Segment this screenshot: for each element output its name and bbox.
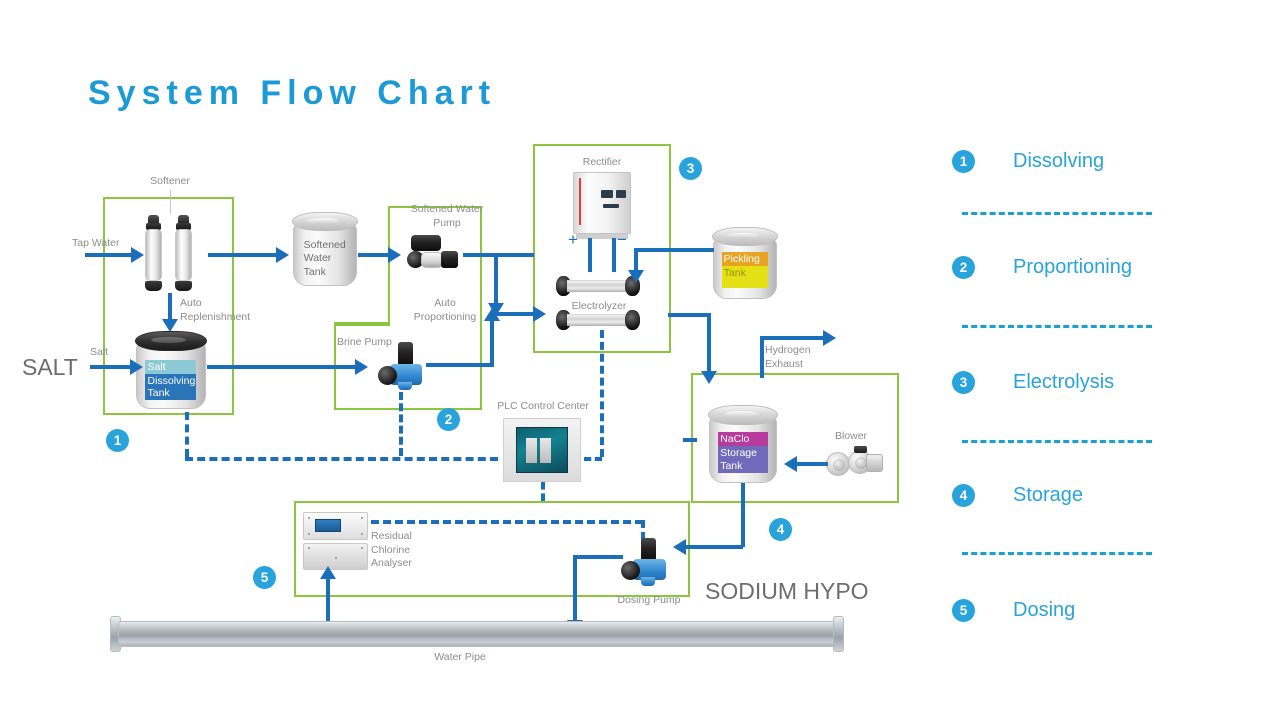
blower: [826, 446, 884, 480]
stage3-control-line-horizontal: [584, 457, 602, 461]
softener-label: Softener: [140, 175, 200, 189]
tank-to-pump-arrowhead: [388, 247, 401, 263]
dosing-discharge-down-line: [573, 555, 577, 627]
pickling-tank-body: Pickling Tank: [713, 239, 776, 299]
tank-to-pump-line: [358, 253, 388, 257]
brine-pump-foot: [398, 382, 412, 390]
flow-chart-canvas: System Flow Chart 1 2 3 4 5 Softener Tap…: [0, 0, 1280, 720]
naclo-out-arrowhead: [673, 539, 686, 555]
polarity-minus-label: −: [617, 230, 627, 250]
legend-label-5: Dosing: [1013, 599, 1075, 622]
analyser-upper-housing: [303, 512, 368, 540]
brine-pump-out-line: [426, 363, 494, 367]
salt-input-title: SALT: [22, 354, 78, 381]
plc-to-stage5-control-line: [541, 482, 545, 501]
brine-out-arrowhead: [355, 359, 368, 375]
blower-air-line: [796, 462, 828, 466]
softened-tank-line-1: Softened: [302, 238, 349, 252]
legend-label-1: Dissolving: [1013, 150, 1104, 173]
electrolyzer-pipe: [567, 280, 629, 292]
brine-pump: [378, 342, 428, 392]
softener-cylinder-right: [175, 215, 192, 291]
rectifier-display-1: [601, 190, 613, 198]
electrolyzer-out-down-line: [707, 313, 711, 375]
blower-label: Blower: [826, 430, 876, 444]
plc-module-1: [526, 438, 537, 464]
stage-2-group-box-joint: [334, 322, 390, 326]
pickling-feed-line: [634, 248, 714, 252]
tap-water-label: Tap Water: [72, 237, 132, 251]
auto-proportioning-label: Auto Proportioning: [398, 297, 492, 324]
brine-pump-motor: [398, 342, 413, 366]
plc-control-center-label: PLC Control Center: [495, 400, 591, 414]
electrolyzer-out-arrowhead: [701, 371, 717, 384]
softener-leader-line: [170, 190, 171, 214]
pump-head: [421, 252, 443, 268]
analyser-signal-line: [371, 520, 643, 524]
brine-pump-rotor-icon: [378, 366, 397, 385]
pickling-tank-band-1: Pickling: [722, 252, 769, 266]
analyser-screw: [308, 547, 310, 549]
rectifier-display-2: [616, 190, 626, 198]
softened-tank-line-2: Water: [302, 251, 349, 265]
pickling-feed-down-line: [634, 248, 638, 272]
stage-badge-5: 5: [253, 566, 276, 589]
plc-module-2: [540, 438, 551, 464]
softened-tank-line-3: Tank: [302, 265, 349, 279]
dosing-pump-foot: [641, 577, 655, 586]
residual-chlorine-analyser: [303, 512, 368, 570]
dosing-pump-motor: [641, 538, 656, 561]
softener-foot: [175, 281, 192, 291]
plc-control-center: [503, 418, 581, 482]
blower-inlet-cap: [854, 446, 867, 453]
water-pipe-cap-right: [833, 616, 844, 652]
pump-motor: [411, 235, 441, 251]
analyser-screw: [361, 517, 363, 519]
legend-badge-5: 5: [952, 599, 975, 622]
legend-label-2: Proportioning: [1013, 256, 1132, 279]
analyser-signal-down-line: [641, 520, 645, 540]
salt-tank-lid: [135, 331, 207, 351]
pickling-feed-arrowhead: [628, 270, 644, 283]
dosing-pump-label: Dosing Pump: [613, 594, 685, 608]
stage4-control-line: [683, 438, 697, 442]
blower-motor: [866, 454, 883, 472]
water-pipe: [118, 621, 836, 647]
stage-badge-3: 3: [679, 157, 702, 180]
dosing-pump: [621, 538, 673, 590]
naclo-tank-handle: [724, 411, 758, 417]
hydrogen-exhaust-arrowhead: [823, 330, 836, 346]
residual-chlorine-analyser-label: Residual Chlorine Analyser: [371, 530, 451, 571]
stage1-control-line-horizontal: [185, 457, 498, 461]
page-title: System Flow Chart: [88, 74, 496, 113]
hydrogen-exhaust-line: [760, 336, 823, 340]
plc-screen: [516, 427, 568, 473]
pickling-tank-lid: [712, 227, 778, 246]
pump-outlet: [441, 251, 458, 268]
rectifier-door-strip: [579, 178, 581, 225]
naclo-out-down-line: [741, 483, 745, 547]
softener-out-arrowhead: [276, 247, 289, 263]
softener-cylinder-left: [145, 215, 162, 291]
legend-item-3[interactable]: 3 Electrolysis: [952, 371, 1114, 394]
legend-badge-2: 2: [952, 256, 975, 279]
stage-badge-1: 1: [106, 429, 129, 452]
hydrogen-exhaust-label: Hydrogen Exhaust: [765, 344, 835, 371]
legend-separator-2: [962, 325, 1152, 328]
softened-pump-out-line: [463, 253, 534, 257]
legend-badge-4: 4: [952, 484, 975, 507]
naclo-out-to-pump-line: [685, 545, 743, 549]
legend-item-2[interactable]: 2 Proportioning: [952, 256, 1132, 279]
tap-water-flow-line: [85, 253, 131, 257]
sample-return-arrowhead: [320, 566, 336, 579]
electrolyzer-pipe: [567, 314, 629, 326]
analyser-screw: [361, 533, 363, 535]
blower-fan-left: [826, 452, 850, 476]
rectifier-label: Rectifier: [570, 156, 634, 170]
analyser-lcd-display: [315, 519, 340, 532]
blower-air-arrowhead: [784, 456, 797, 472]
salt-flow-line: [90, 365, 130, 369]
naclo-storage-tank: NaClo Storage Tank: [708, 405, 778, 483]
analyser-screw: [361, 547, 363, 549]
naclo-tank-lid: [708, 405, 778, 425]
legend-label-3: Electrolysis: [1013, 371, 1114, 394]
stage1-control-line-vertical: [185, 412, 189, 457]
salt-tank-handle: [151, 337, 186, 343]
rectifier: [573, 172, 631, 234]
hydrogen-exhaust-riser: [760, 336, 764, 378]
softened-water-tank: Softened Water Tank: [292, 212, 358, 286]
naclo-tank-band-1: NaClo: [718, 432, 768, 446]
naclo-tank-body: NaClo Storage Tank: [709, 417, 776, 483]
manifold-to-electrolyzer-arrowhead: [533, 306, 546, 322]
softened-water-tank-body: Softened Water Tank: [293, 224, 356, 286]
legend-badge-3: 3: [952, 371, 975, 394]
analyser-screw: [308, 517, 310, 519]
softened-pump-down-line: [494, 253, 498, 305]
legend-item-4[interactable]: 4 Storage: [952, 484, 1083, 507]
legend-item-5[interactable]: 5 Dosing: [952, 599, 1075, 622]
rectifier-indicator: [603, 204, 619, 208]
salt-flow-arrowhead: [130, 359, 143, 375]
pickling-tank-handle: [727, 233, 759, 239]
rectifier-negative-lead: [612, 238, 616, 272]
naclo-tank-band-3: Tank: [718, 459, 768, 473]
electrolyzer-label: Electrolyzer: [568, 300, 630, 314]
legend-separator-4: [962, 552, 1152, 555]
stage3-control-line-vertical: [600, 330, 604, 457]
product-output-title: SODIUM HYPO: [705, 578, 869, 605]
tap-water-arrowhead: [131, 247, 144, 263]
analyser-screw: [308, 533, 310, 535]
legend-separator-3: [962, 440, 1152, 443]
legend-item-1[interactable]: 1 Dissolving: [952, 150, 1104, 173]
salt-tank-band-3: Tank: [145, 386, 196, 400]
rectifier-positive-lead: [588, 238, 592, 272]
salt-tank-body: Salt Dissolving Tank: [136, 343, 205, 409]
water-pipe-label: Water Pipe: [425, 651, 495, 665]
softener-shell: [145, 229, 162, 281]
softener-shell: [175, 229, 192, 281]
rectifier-cabinet: [573, 172, 631, 234]
polarity-plus-label: +: [568, 230, 578, 250]
softener-foot: [145, 281, 162, 291]
dosing-pump-rotor-icon: [621, 561, 640, 580]
stage2-control-line-vertical: [399, 392, 403, 456]
manifold-to-electrolyzer-line: [494, 312, 535, 316]
legend-badge-1: 1: [952, 150, 975, 173]
legend-label-4: Storage: [1013, 484, 1083, 507]
salt-dissolving-tank: Salt Dissolving Tank: [135, 331, 207, 409]
salt-small-label: Salt: [90, 346, 130, 360]
brine-out-line: [207, 365, 355, 369]
brine-pump-up-line: [490, 320, 494, 365]
pickling-tank-band-3: [722, 276, 769, 288]
softened-water-tank-lid: [292, 212, 358, 231]
pickling-tank: Pickling Tank: [712, 227, 778, 299]
softened-water-pump: [405, 235, 461, 275]
electrolyzer-out-line: [668, 313, 711, 317]
stage-badge-2: 2: [437, 408, 460, 431]
salt-tank-band-1: Salt: [145, 360, 196, 374]
auto-replenishment-label: Auto Replenishment: [180, 297, 270, 324]
stage-badge-4: 4: [769, 518, 792, 541]
auto-replenishment-line: [168, 293, 172, 321]
legend-separator-1: [962, 212, 1152, 215]
softener-out-line: [208, 253, 276, 257]
analyser-center-port: [335, 557, 337, 559]
softened-water-pump-label: Softened Water Pump: [399, 203, 495, 230]
dosing-discharge-line: [573, 555, 623, 559]
softened-tank-handle: [307, 218, 339, 224]
